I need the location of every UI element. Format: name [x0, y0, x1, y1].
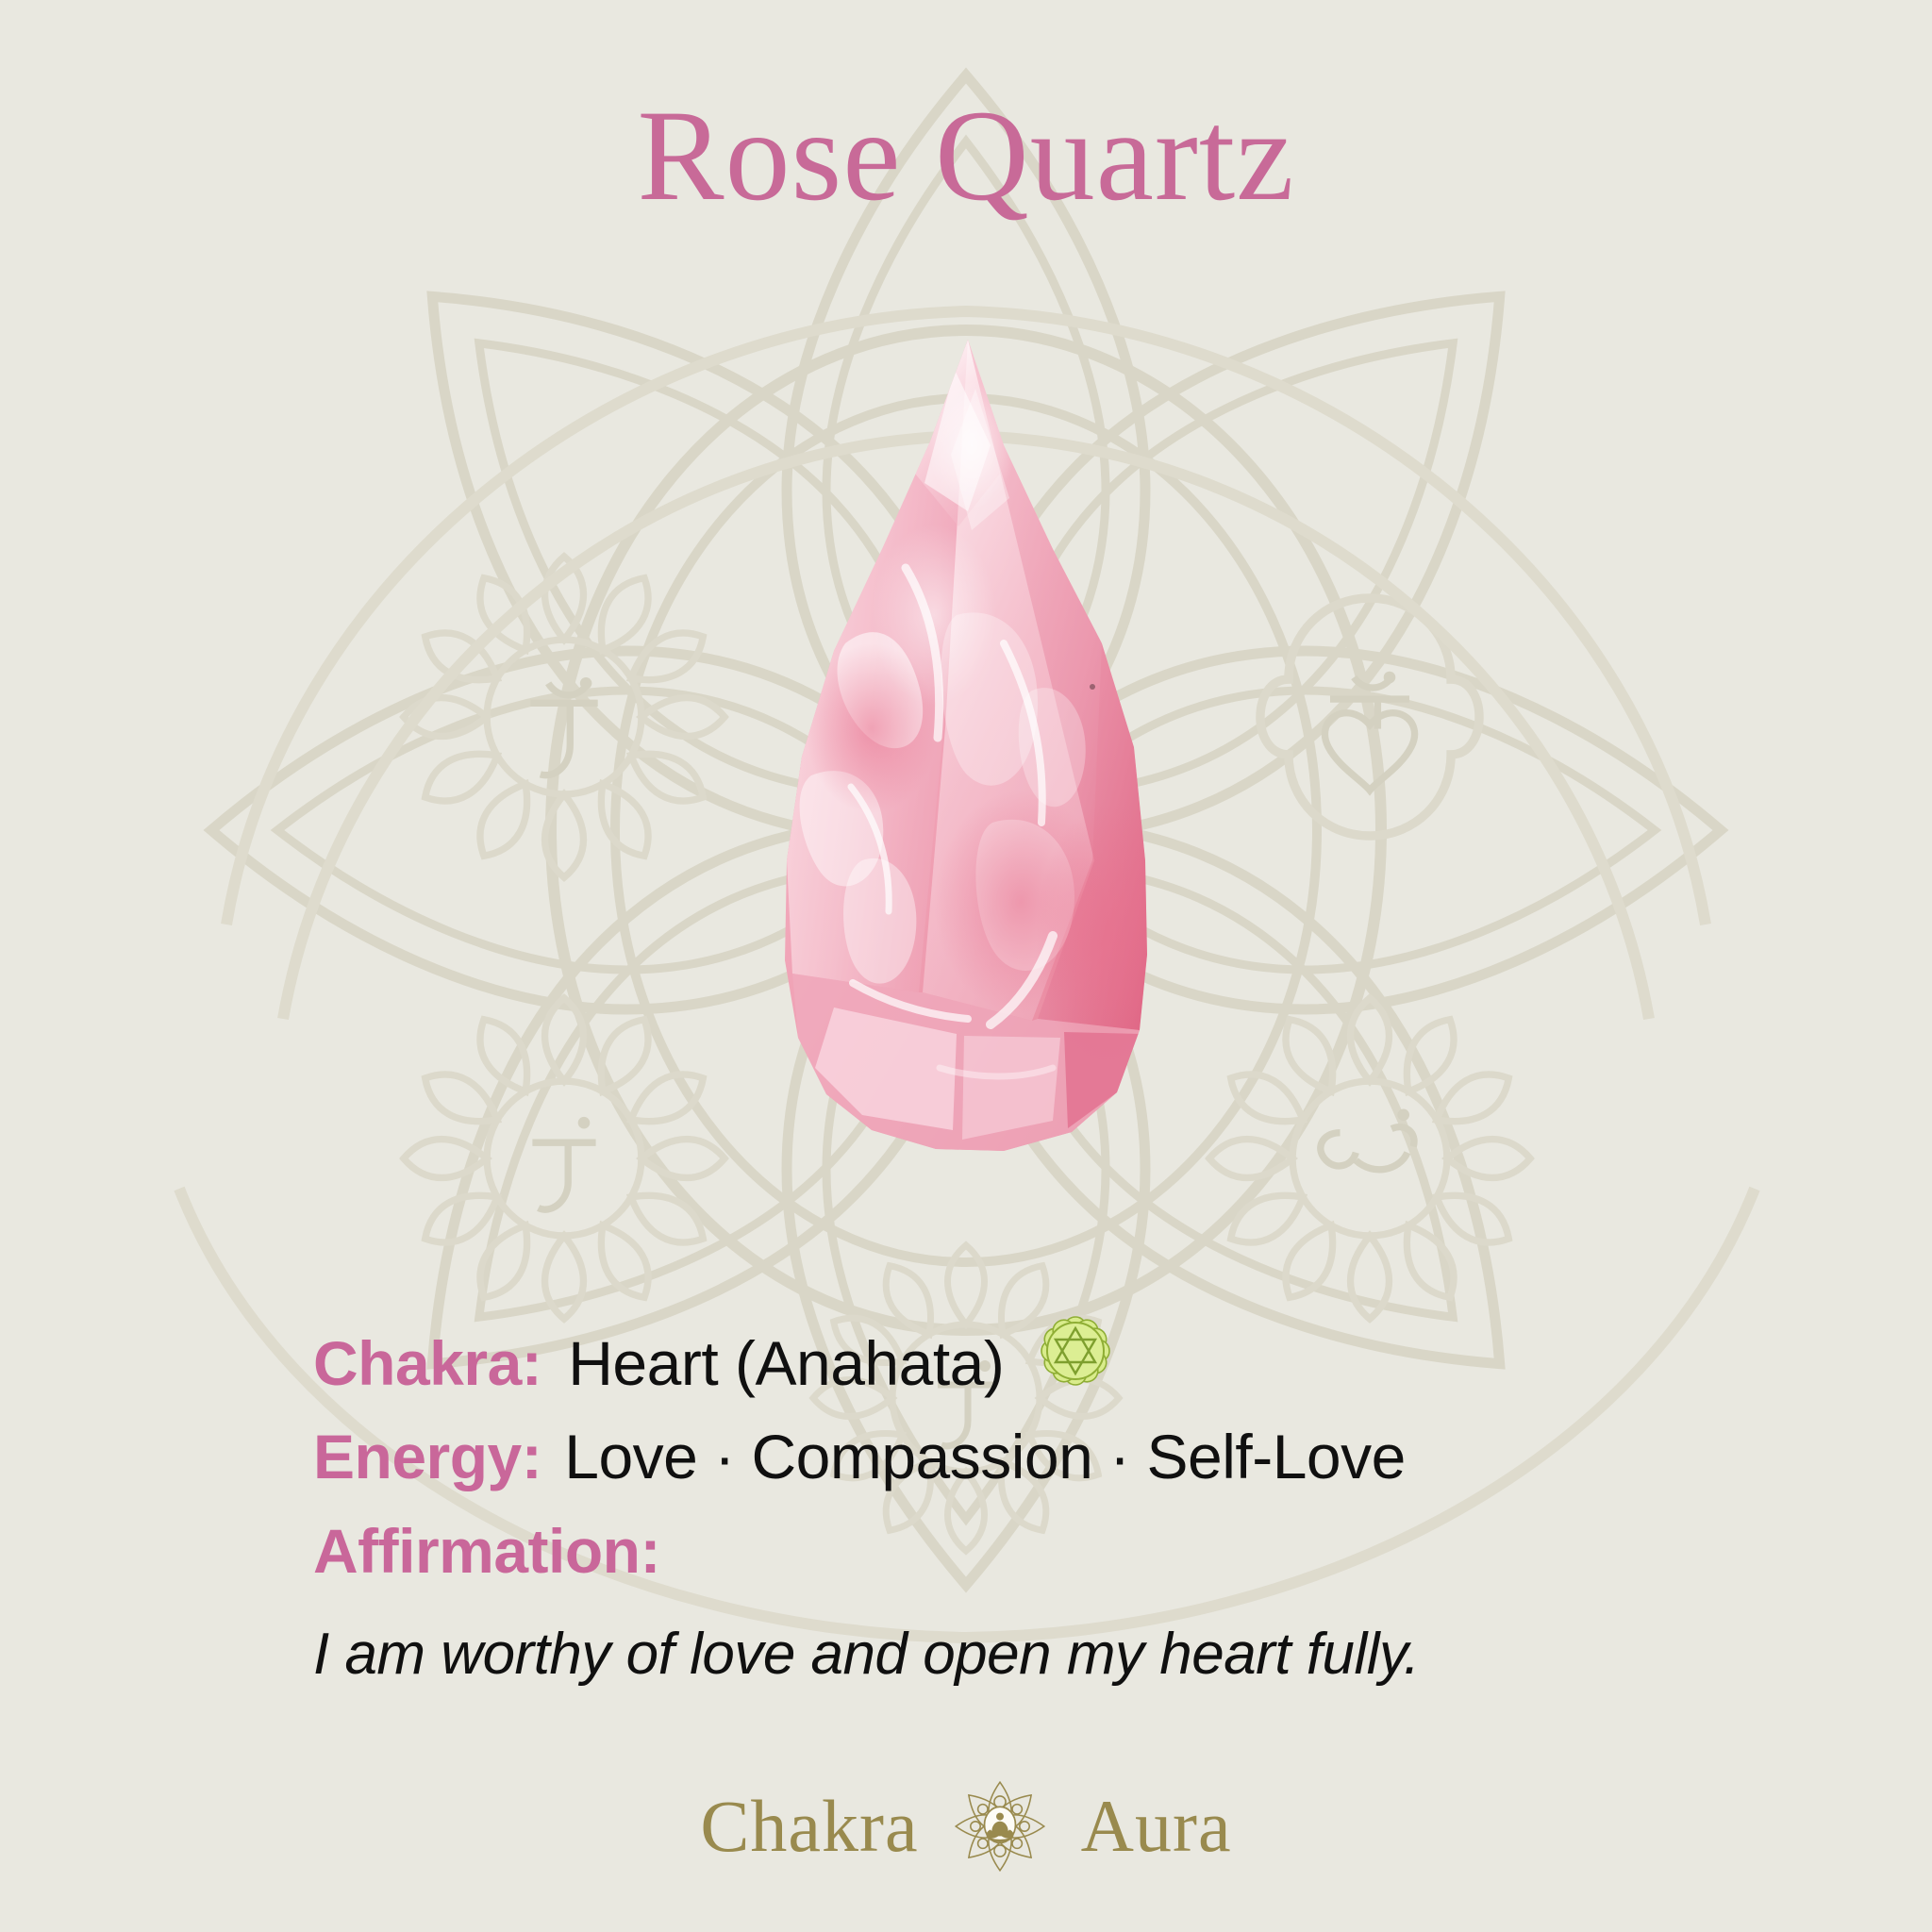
- page-title: Rose Quartz: [0, 91, 1932, 221]
- energy-label: Energy:: [313, 1423, 541, 1491]
- brand-word-aura: Aura: [1081, 1790, 1232, 1863]
- brand-footer: Chakra: [0, 1777, 1932, 1875]
- rose-quartz-crystal-point-icon: [721, 332, 1211, 1181]
- crystal-info-card: Rose Quartz: [0, 0, 1932, 1932]
- affirmation-text: I am worthy of love and open my heart fu…: [313, 1621, 1653, 1688]
- chakra-row: Chakra: Heart (Anahata): [313, 1291, 1653, 1398]
- crystal-image: [721, 332, 1211, 1181]
- anahata-heart-chakra-icon: [1028, 1304, 1123, 1398]
- chakra-label: Chakra:: [313, 1329, 541, 1398]
- energy-row: Energy: Love · Compassion · Self-Love: [313, 1423, 1653, 1491]
- chakra-value: Heart (Anahata): [568, 1329, 1004, 1398]
- lotus-meditation-logo-icon: [951, 1777, 1049, 1875]
- energy-value: Love · Compassion · Self-Love: [564, 1423, 1406, 1491]
- brand-word-chakra: Chakra: [700, 1790, 918, 1863]
- info-block: Chakra: Heart (Anahata): [313, 1291, 1653, 1688]
- affirmation-label: Affirmation:: [313, 1515, 1653, 1587]
